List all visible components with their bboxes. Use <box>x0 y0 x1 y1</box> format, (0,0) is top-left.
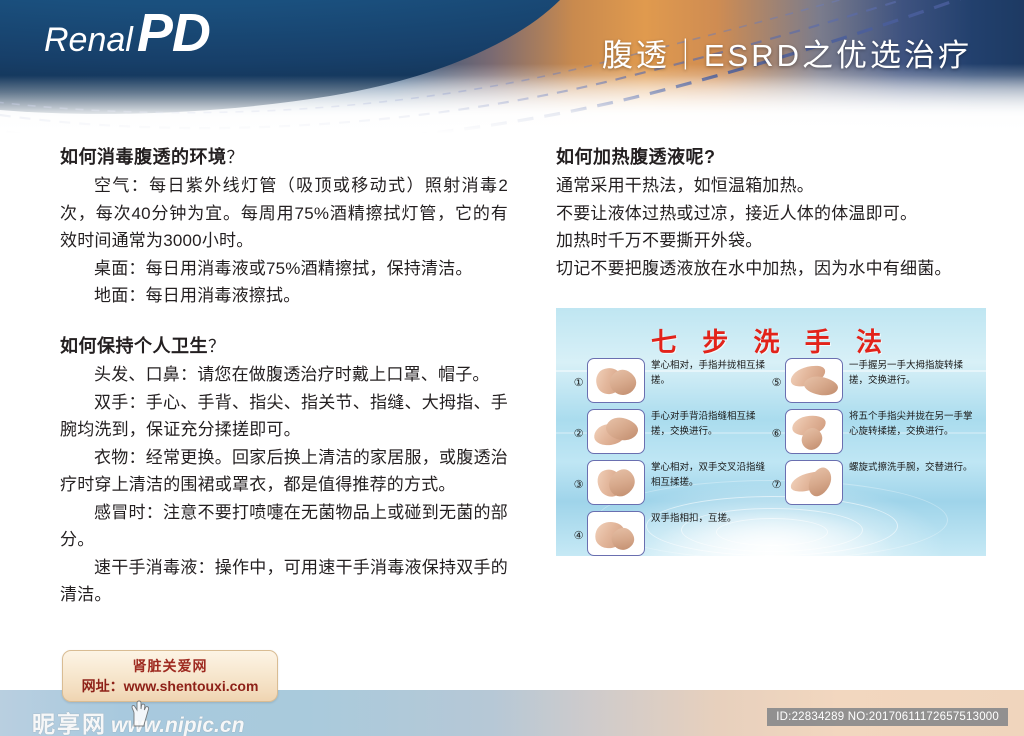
heading-personal-hygiene: 如何保持个人卫生？ <box>60 334 508 359</box>
step-text: 掌心相对，双手交叉沿指缝相互揉搓。 <box>651 460 766 490</box>
watermark-name: 昵享网 <box>32 711 107 736</box>
step-number: ④ <box>570 511 587 542</box>
handwash-step: ⑦ 螺旋式擦洗手腕，交替进行。 <box>768 460 974 505</box>
step-text: 螺旋式擦洗手腕，交替进行。 <box>849 460 973 476</box>
step-number: ① <box>570 358 587 389</box>
step-number: ⑤ <box>768 358 785 389</box>
image-id-tag: ID:22834289 NO:20170611172657513000 <box>767 708 1008 726</box>
handwash-step: ⑤ 一手握另一手大拇指旋转揉搓，交换进行。 <box>768 358 974 403</box>
handwash-steps-left: ① 掌心相对，手指并拢相互揉搓。 ② 手心对手背沿指缝相互揉 <box>570 358 766 556</box>
handwash-steps-right: ⑤ 一手握另一手大拇指旋转揉搓，交换进行。 ⑥ 将五个手指尖 <box>768 358 974 511</box>
line-dry-heat: 通常采用干热法，如恒温箱加热。 <box>556 172 988 200</box>
step-thumbnail-thumb-rotation <box>785 358 843 403</box>
step-thumbnail-back-of-hands <box>587 409 645 454</box>
page-header: RenalPD 腹透｜ESRD之优选治疗 <box>0 0 1024 145</box>
handwash-poster-title: 七 步 洗 手 法 <box>556 322 986 359</box>
step-text: 掌心相对，手指并拢相互揉搓。 <box>651 358 766 388</box>
step-number: ③ <box>570 460 587 491</box>
logo-renal-text: Renal <box>44 21 133 59</box>
content-area: 如何消毒腹透的环境？ 空气：每日紫外线灯管（吸顶或移动式）照射消毒2次，每次40… <box>0 145 1024 690</box>
handwash-poster-image: 七 步 洗 手 法 ① 掌心相对，手指并拢相互揉搓。 ② <box>556 308 986 556</box>
step-text: 手心对手背沿指缝相互揉搓，交换进行。 <box>651 409 766 439</box>
watermark: 昵享网www.nipic.cn <box>32 705 244 736</box>
step-number: ⑥ <box>768 409 785 440</box>
paragraph-hair-mouth-nose: 头发、口鼻：请您在做腹透治疗时戴上口罩、帽子。 <box>60 361 508 389</box>
heading-disinfect-environment-text: 如何消毒腹透的环境 <box>60 147 227 167</box>
heading-personal-hygiene-mark: ？ <box>208 337 226 356</box>
step-thumbnail-palms-together <box>587 358 645 403</box>
line-temperature: 不要让液体过热或过凉，接近人体的体温即可。 <box>556 200 988 228</box>
brand-logo: RenalPD <box>44 6 210 60</box>
step-thumbnail-wrist-scrub <box>785 460 843 505</box>
watermark-url: www.nipic.cn <box>111 714 244 736</box>
heading-disinfect-environment: 如何消毒腹透的环境？ <box>60 145 508 170</box>
paragraph-hand-sanitizer: 速干手消毒液：操作中，可用速干手消毒液保持双手的清洁。 <box>60 554 508 609</box>
step-thumbnail-interlaced-fingers <box>587 460 645 505</box>
step-thumbnail-fingertips-in-palm <box>785 409 843 454</box>
step-text: 将五个手指尖并拢在另一手掌心旋转揉搓，交换进行。 <box>849 409 974 439</box>
handwash-step: ⑥ 将五个手指尖并拢在另一手掌心旋转揉搓，交换进行。 <box>768 409 974 454</box>
paragraph-tabletop: 桌面：每日用消毒液或75%酒精擦拭，保持清洁。 <box>60 255 508 283</box>
paragraph-air: 空气：每日紫外线灯管（吸顶或移动式）照射消毒2次，每次40分钟为宜。每周用75%… <box>60 172 508 255</box>
handwash-step: ① 掌心相对，手指并拢相互揉搓。 <box>570 358 766 403</box>
section-spacer <box>60 310 508 334</box>
page-title: 腹透｜ESRD之优选治疗 <box>602 30 972 75</box>
handwash-step: ③ 掌心相对，双手交叉沿指缝相互揉搓。 <box>570 460 766 505</box>
badge-site-url: 网址：www.shentouxi.com <box>63 676 277 696</box>
heading-warm-dialysate: 如何加热腹透液呢? <box>556 145 988 170</box>
paragraph-hands: 双手：手心、手背、指尖、指关节、指缝、大拇指、手腕均洗到，保证充分揉搓即可。 <box>60 389 508 444</box>
handwash-step: ④ 双手指相扣，互搓。 <box>570 511 766 556</box>
line-no-water-heating: 切记不要把腹透液放在水中加热，因为水中有细菌。 <box>556 255 988 283</box>
heading-personal-hygiene-text: 如何保持个人卫生 <box>60 336 208 356</box>
step-thumbnail-locked-fingers <box>587 511 645 556</box>
website-badge[interactable]: 肾脏关爱网 网址：www.shentouxi.com <box>62 650 278 702</box>
right-column: 如何加热腹透液呢? 通常采用干热法，如恒温箱加热。 不要让液体过热或过凉，接近人… <box>556 145 988 556</box>
step-number: ⑦ <box>768 460 785 491</box>
paragraph-when-cold: 感冒时：注意不要打喷嚏在无菌物品上或碰到无菌的部分。 <box>60 499 508 554</box>
paragraph-clothing: 衣物：经常更换。回家后换上清洁的家居服，或腹透治疗时穿上清洁的围裙或罩衣，都是值… <box>60 444 508 499</box>
step-text: 双手指相扣，互搓。 <box>651 511 737 527</box>
badge-site-name: 肾脏关爱网 <box>63 656 277 676</box>
logo-pd-text: PD <box>137 3 210 63</box>
line-outer-bag: 加热时千万不要撕开外袋。 <box>556 227 988 255</box>
poster-page: RenalPD 腹透｜ESRD之优选治疗 如何消毒腹透的环境？ 空气：每日紫外线… <box>0 0 1024 736</box>
step-text: 一手握另一手大拇指旋转揉搓，交换进行。 <box>849 358 974 388</box>
step-number: ② <box>570 409 587 440</box>
handwash-step: ② 手心对手背沿指缝相互揉搓，交换进行。 <box>570 409 766 454</box>
left-column: 如何消毒腹透的环境？ 空气：每日紫外线灯管（吸顶或移动式）照射消毒2次，每次40… <box>60 145 508 609</box>
paragraph-floor: 地面：每日用消毒液擦拭。 <box>60 282 508 310</box>
heading-disinfect-environment-mark: ？ <box>227 148 245 167</box>
